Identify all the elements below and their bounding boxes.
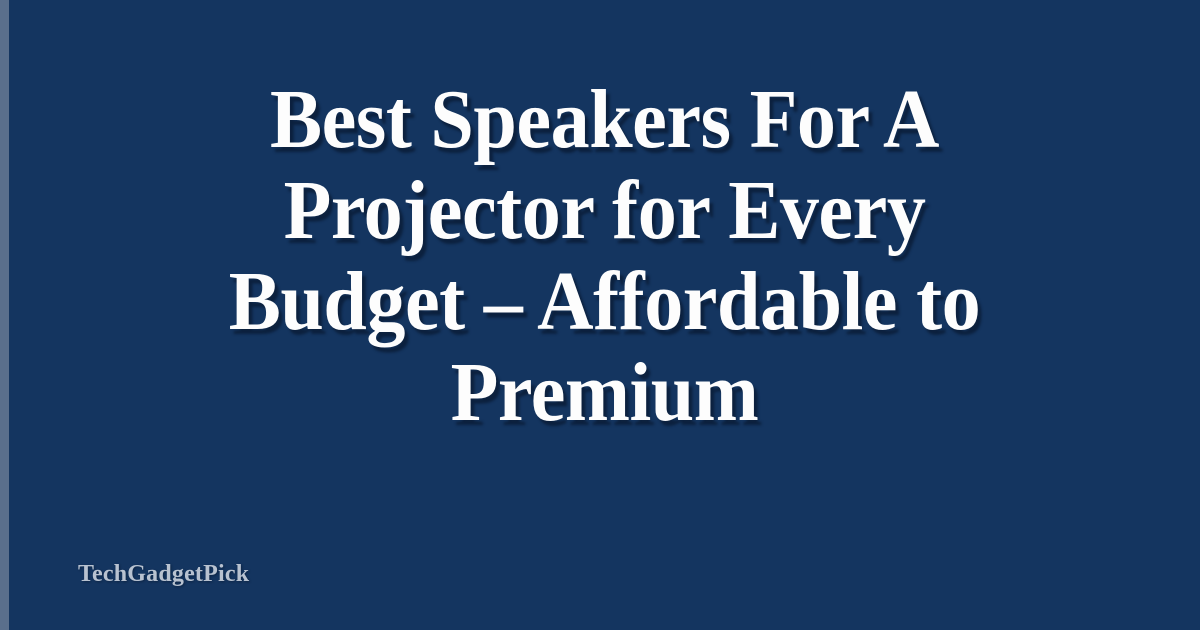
page-title: Best Speakers For A Projector for Every … — [106, 74, 1102, 439]
brand-footer: TechGadgetPick — [78, 562, 249, 586]
social-share-card: Best Speakers For A Projector for Every … — [0, 0, 1200, 630]
title-block: Best Speakers For A Projector for Every … — [9, 0, 1200, 540]
brand-name: TechGadgetPick — [78, 562, 249, 586]
left-accent-strip — [0, 0, 9, 630]
